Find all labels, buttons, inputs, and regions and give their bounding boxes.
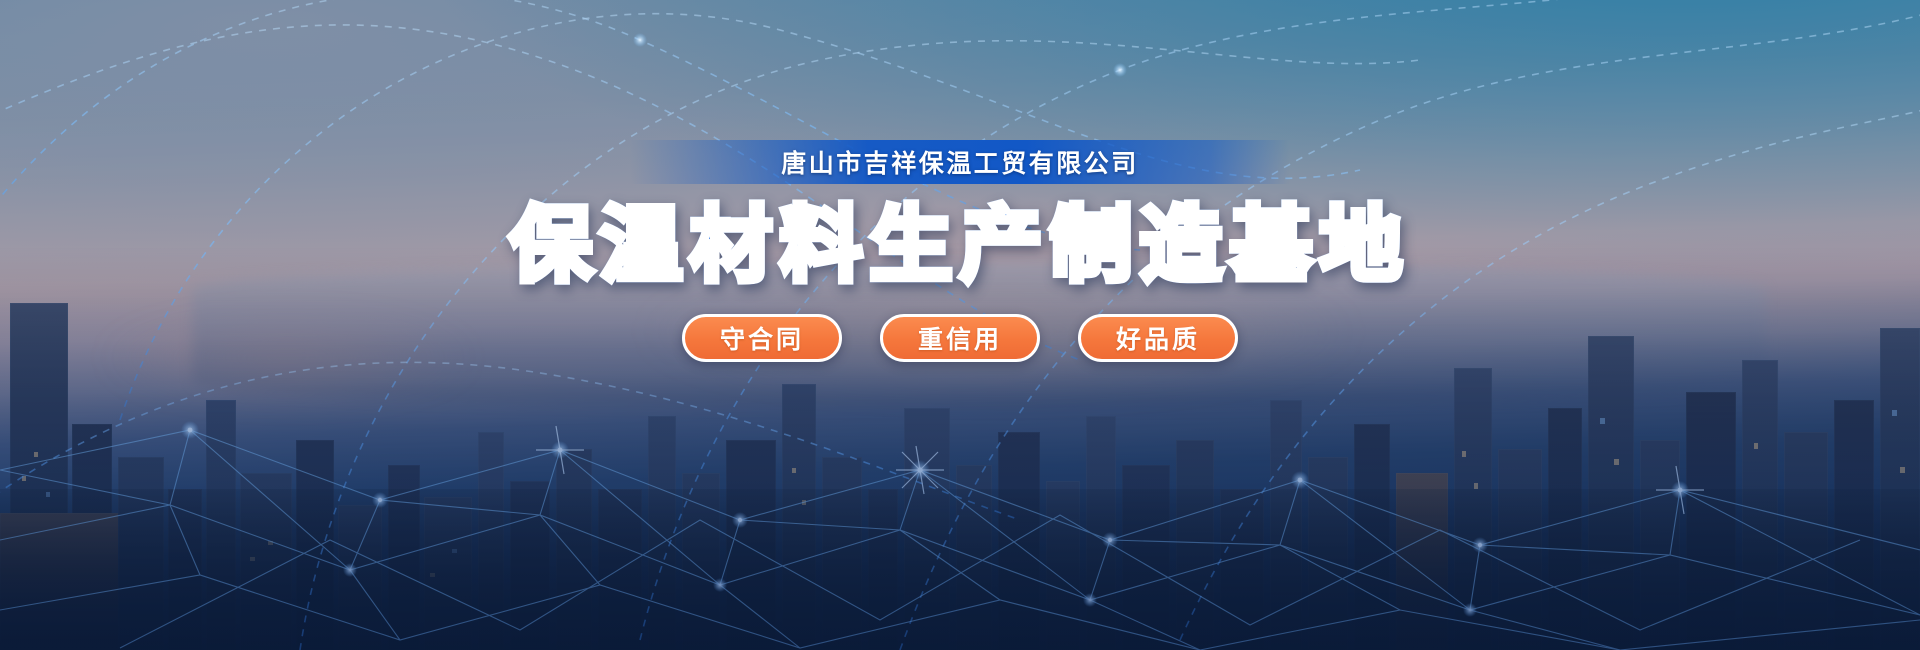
hero-banner: 唐山市吉祥保温工贸有限公司 保温材料生产制造基地 守合同 重信用 好品质 xyxy=(0,0,1920,650)
feature-pill-1-label: 守合同 xyxy=(720,320,804,356)
banner-content: 唐山市吉祥保温工贸有限公司 保温材料生产制造基地 守合同 重信用 好品质 xyxy=(0,0,1920,650)
headline-text: 保温材料生产制造基地 xyxy=(510,178,1410,297)
feature-pill-3[interactable]: 好品质 xyxy=(1078,314,1238,362)
company-name: 唐山市吉祥保温工贸有限公司 xyxy=(781,144,1139,180)
feature-pill-2-label: 重信用 xyxy=(918,320,1002,356)
feature-pill-2[interactable]: 重信用 xyxy=(880,314,1040,362)
feature-pill-1[interactable]: 守合同 xyxy=(682,314,842,362)
feature-pill-3-label: 好品质 xyxy=(1116,320,1200,356)
feature-pill-group: 守合同 重信用 好品质 xyxy=(682,314,1238,362)
headline-wrapper: 保温材料生产制造基地 xyxy=(0,178,1920,297)
